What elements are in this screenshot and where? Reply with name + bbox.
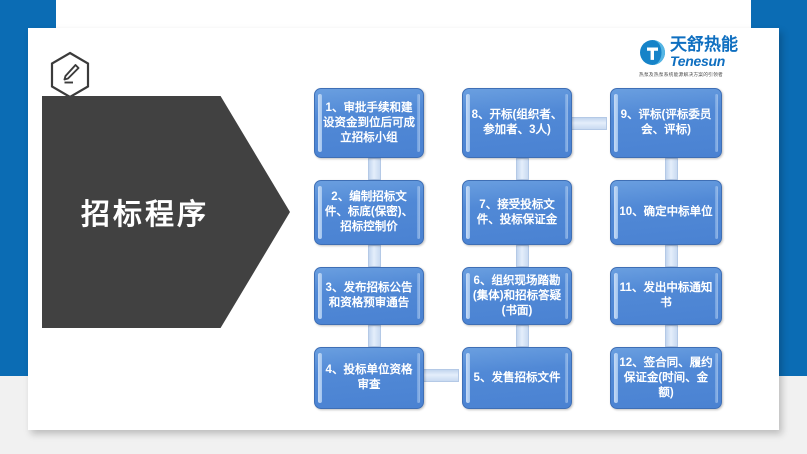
flow-node-10[interactable]: 10、确定中标单位	[610, 180, 722, 245]
flow-node-1[interactable]: 1、审批手续和建设资金到位后可成立招标小组	[314, 88, 424, 158]
flow-node-8[interactable]: 8、开标(组织者、参加者、3人)	[462, 88, 572, 158]
flow-node-4[interactable]: 4、投标单位资格审查	[314, 347, 424, 409]
logo-english-name: Tenesun	[670, 54, 738, 68]
flow-node-3[interactable]: 3、发布招标公告和资格预审通告	[314, 267, 424, 325]
flow-node-9[interactable]: 9、评标(评标委员会、评标)	[610, 88, 722, 158]
flow-node-2[interactable]: 2、编制招标文件、标底(保密)、招标控制价	[314, 180, 424, 245]
pencil-hexagon-icon	[48, 51, 92, 99]
slide-canvas: 天舒热能 Tenesun 热泵及热泵系统能源解决方案的引领者 招标程序 1、审批…	[0, 0, 807, 454]
logo-tagline: 热泵及热泵系统能源解决方案的引领者	[639, 71, 759, 78]
flow-node-5[interactable]: 5、发售招标文件	[462, 347, 572, 409]
flow-node-6[interactable]: 6、组织现场踏勘(集体)和招标答疑(书面)	[462, 267, 572, 325]
flow-node-12[interactable]: 12、签合同、履约保证金(时间、金额)	[610, 347, 722, 409]
logo-chinese-name: 天舒热能	[670, 36, 738, 53]
company-logo: 天舒热能 Tenesun 热泵及热泵系统能源解决方案的引领者	[639, 36, 765, 78]
flow-node-7[interactable]: 7、接受投标文件、投标保证金	[462, 180, 572, 245]
flow-node-11[interactable]: 11、发出中标通知书	[610, 267, 722, 325]
tenesun-circle-mark-icon	[639, 39, 666, 66]
page-title: 招标程序	[81, 191, 209, 233]
